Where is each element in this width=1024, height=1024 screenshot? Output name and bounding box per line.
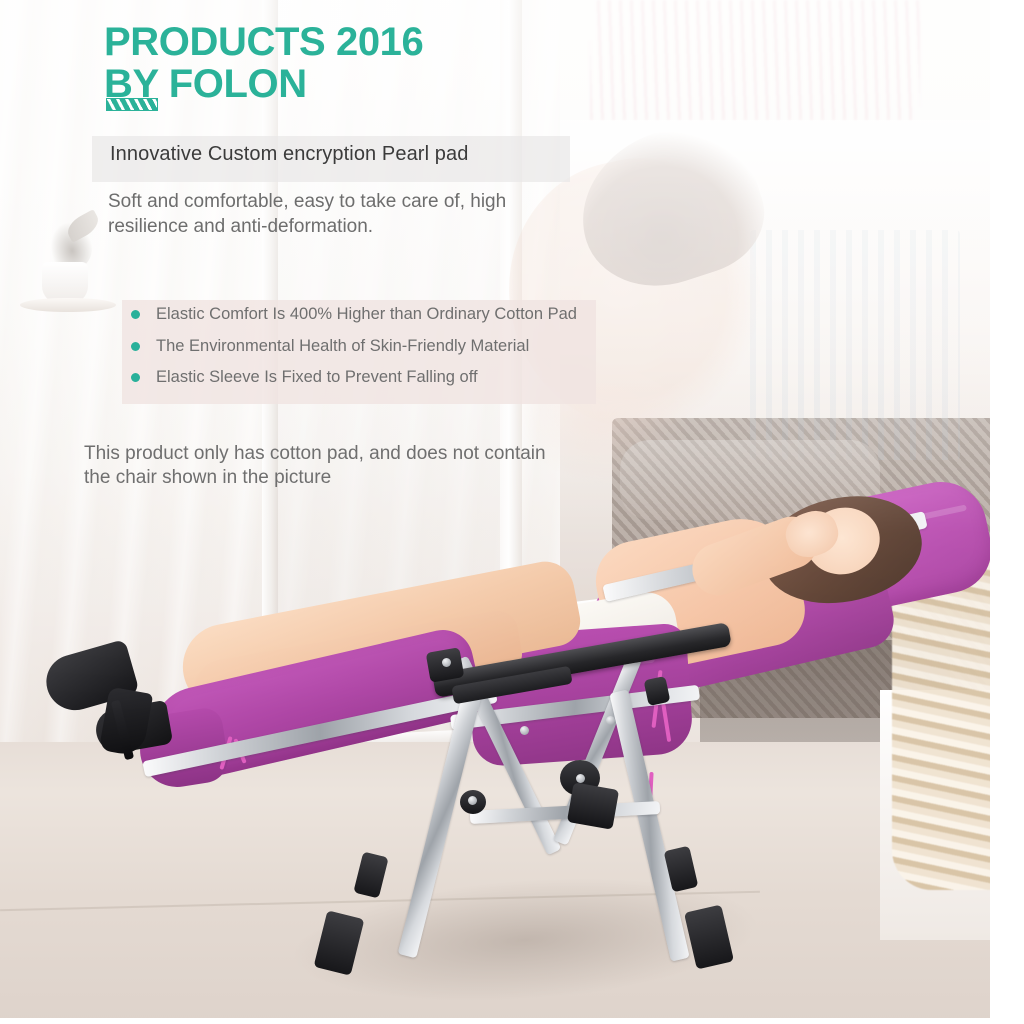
bottom-white-margin (0, 1018, 1024, 1024)
right-white-margin (990, 0, 1024, 1024)
list-item: Elastic Sleeve Is Fixed to Prevent Falli… (128, 369, 608, 386)
product-lede: Soft and comfortable, easy to take care … (108, 190, 578, 239)
list-item: The Environmental Health of Skin-Friendl… (128, 338, 608, 355)
list-item: Elastic Comfort Is 400% Higher than Ordi… (128, 306, 608, 323)
product-poster: PRODUCTS 2016 BY FOLON Innovative Custom… (0, 0, 1024, 1024)
product-disclaimer: This product only has cotton pad, and do… (84, 442, 554, 491)
marketing-copy: PRODUCTS 2016 BY FOLON Innovative Custom… (0, 0, 1024, 1024)
brand-headline: PRODUCTS 2016 BY FOLON (104, 22, 423, 105)
hatched-accent-bar (106, 98, 158, 111)
feature-list: Elastic Comfort Is 400% Higher than Ordi… (128, 306, 608, 401)
product-subtitle: Innovative Custom encryption Pearl pad (110, 143, 468, 166)
